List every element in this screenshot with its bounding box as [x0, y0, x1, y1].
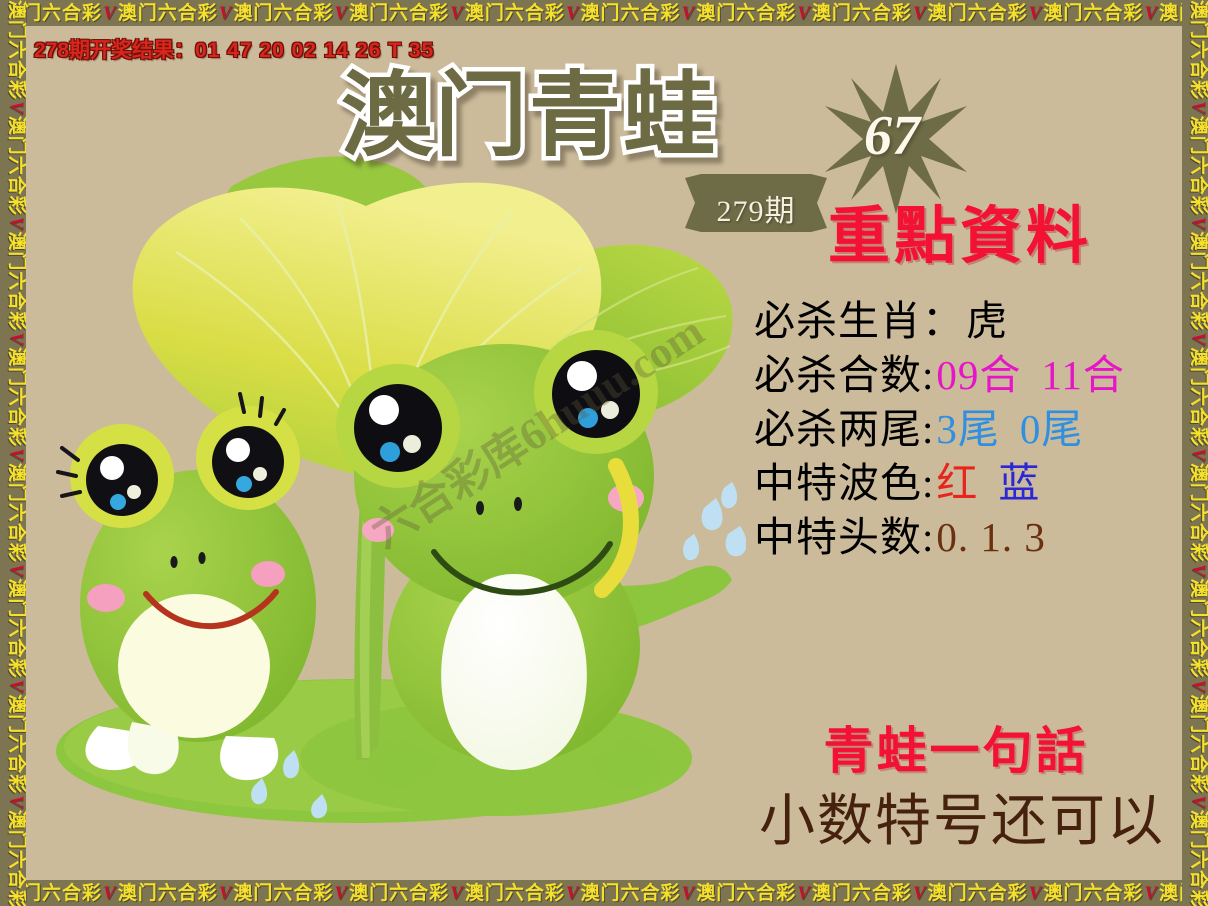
draw-result-numbers: 01 47 20 02 14 26 T 35 [195, 39, 434, 62]
poster-canvas: 278期开奖结果：01 47 20 02 14 26 T 35 67 澳门青蛙 … [26, 26, 1182, 880]
info-row-value: 虎 [966, 298, 1008, 344]
info-row-label: 必杀生肖： [754, 298, 964, 344]
border-strip-left: 澳门六合彩V澳门六合彩V澳门六合彩V澳门六合彩V澳门六合彩V澳门六合彩V澳门六合… [0, 0, 26, 906]
info-row-value: 红 [936, 460, 978, 506]
info-row-label: 中特头数: [754, 514, 934, 560]
border-strip-right: 澳门六合彩V澳门六合彩V澳门六合彩V澳门六合彩V澳门六合彩V澳门六合彩V澳门六合… [1182, 0, 1208, 906]
panel-rows: 必杀生肖：虎必杀合数:09合11合必杀两尾:3尾0尾中特波色:红蓝中特头数:0.… [726, 294, 1182, 565]
phrase-body: 小数特号还可以 [712, 794, 1182, 850]
burst-number: 67 [864, 104, 920, 168]
border-strip-left-text: 澳门六合彩V澳门六合彩V澳门六合彩V澳门六合彩V澳门六合彩V澳门六合彩V澳门六合… [7, 0, 26, 906]
info-row-label: 中特波色: [754, 460, 934, 506]
info-row-value: 09合 [936, 352, 1021, 398]
info-row-value-secondary: 11合 [1041, 352, 1124, 398]
info-row-value: 3尾 [936, 406, 1000, 452]
info-row: 中特头数:0. 1. 3 [754, 510, 1182, 564]
info-row: 中特波色:红蓝 [754, 456, 1182, 510]
phrase-heading: 青蛙一句話 [726, 726, 1182, 776]
info-row-value-secondary: 0尾 [1020, 406, 1084, 452]
page-title-outline: 澳门青蛙 [341, 70, 717, 162]
lottery-poster: 澳门六合彩V澳门六合彩V澳门六合彩V澳门六合彩V澳门六合彩V澳门六合彩V澳门六合… [0, 0, 1208, 906]
border-strip-top: 澳门六合彩V澳门六合彩V澳门六合彩V澳门六合彩V澳门六合彩V澳门六合彩V澳门六合… [0, 0, 1208, 26]
panel-heading: 重點資料 [734, 206, 1182, 268]
border-strip-bottom-text: 澳门六合彩V澳门六合彩V澳门六合彩V澳门六合彩V澳门六合彩V澳门六合彩V澳门六合… [2, 884, 1208, 903]
info-row-value-secondary: 蓝 [998, 460, 1040, 506]
info-row: 必杀两尾:3尾0尾 [754, 402, 1182, 456]
info-row-label: 必杀合数: [754, 352, 934, 398]
border-strip-bottom: 澳门六合彩V澳门六合彩V澳门六合彩V澳门六合彩V澳门六合彩V澳门六合彩V澳门六合… [0, 880, 1208, 906]
draw-result-prefix: 278期开奖结果： [34, 39, 195, 62]
draw-result-bar: 278期开奖结果：01 47 20 02 14 26 T 35 [34, 34, 434, 64]
key-info-panel: 重點資料 必杀生肖：虎必杀合数:09合11合必杀两尾:3尾0尾中特波色:红蓝中特… [726, 206, 1182, 565]
info-row: 必杀生肖：虎 [754, 294, 1182, 348]
border-strip-top-text: 澳门六合彩V澳门六合彩V澳门六合彩V澳门六合彩V澳门六合彩V澳门六合彩V澳门六合… [2, 4, 1208, 23]
border-strip-right-text: 澳门六合彩V澳门六合彩V澳门六合彩V澳门六合彩V澳门六合彩V澳门六合彩V澳门六合… [1189, 0, 1208, 906]
info-row: 必杀合数:09合11合 [754, 348, 1182, 402]
info-row-label: 必杀两尾: [754, 406, 934, 452]
info-row-value: 0. 1. 3 [936, 514, 1046, 560]
